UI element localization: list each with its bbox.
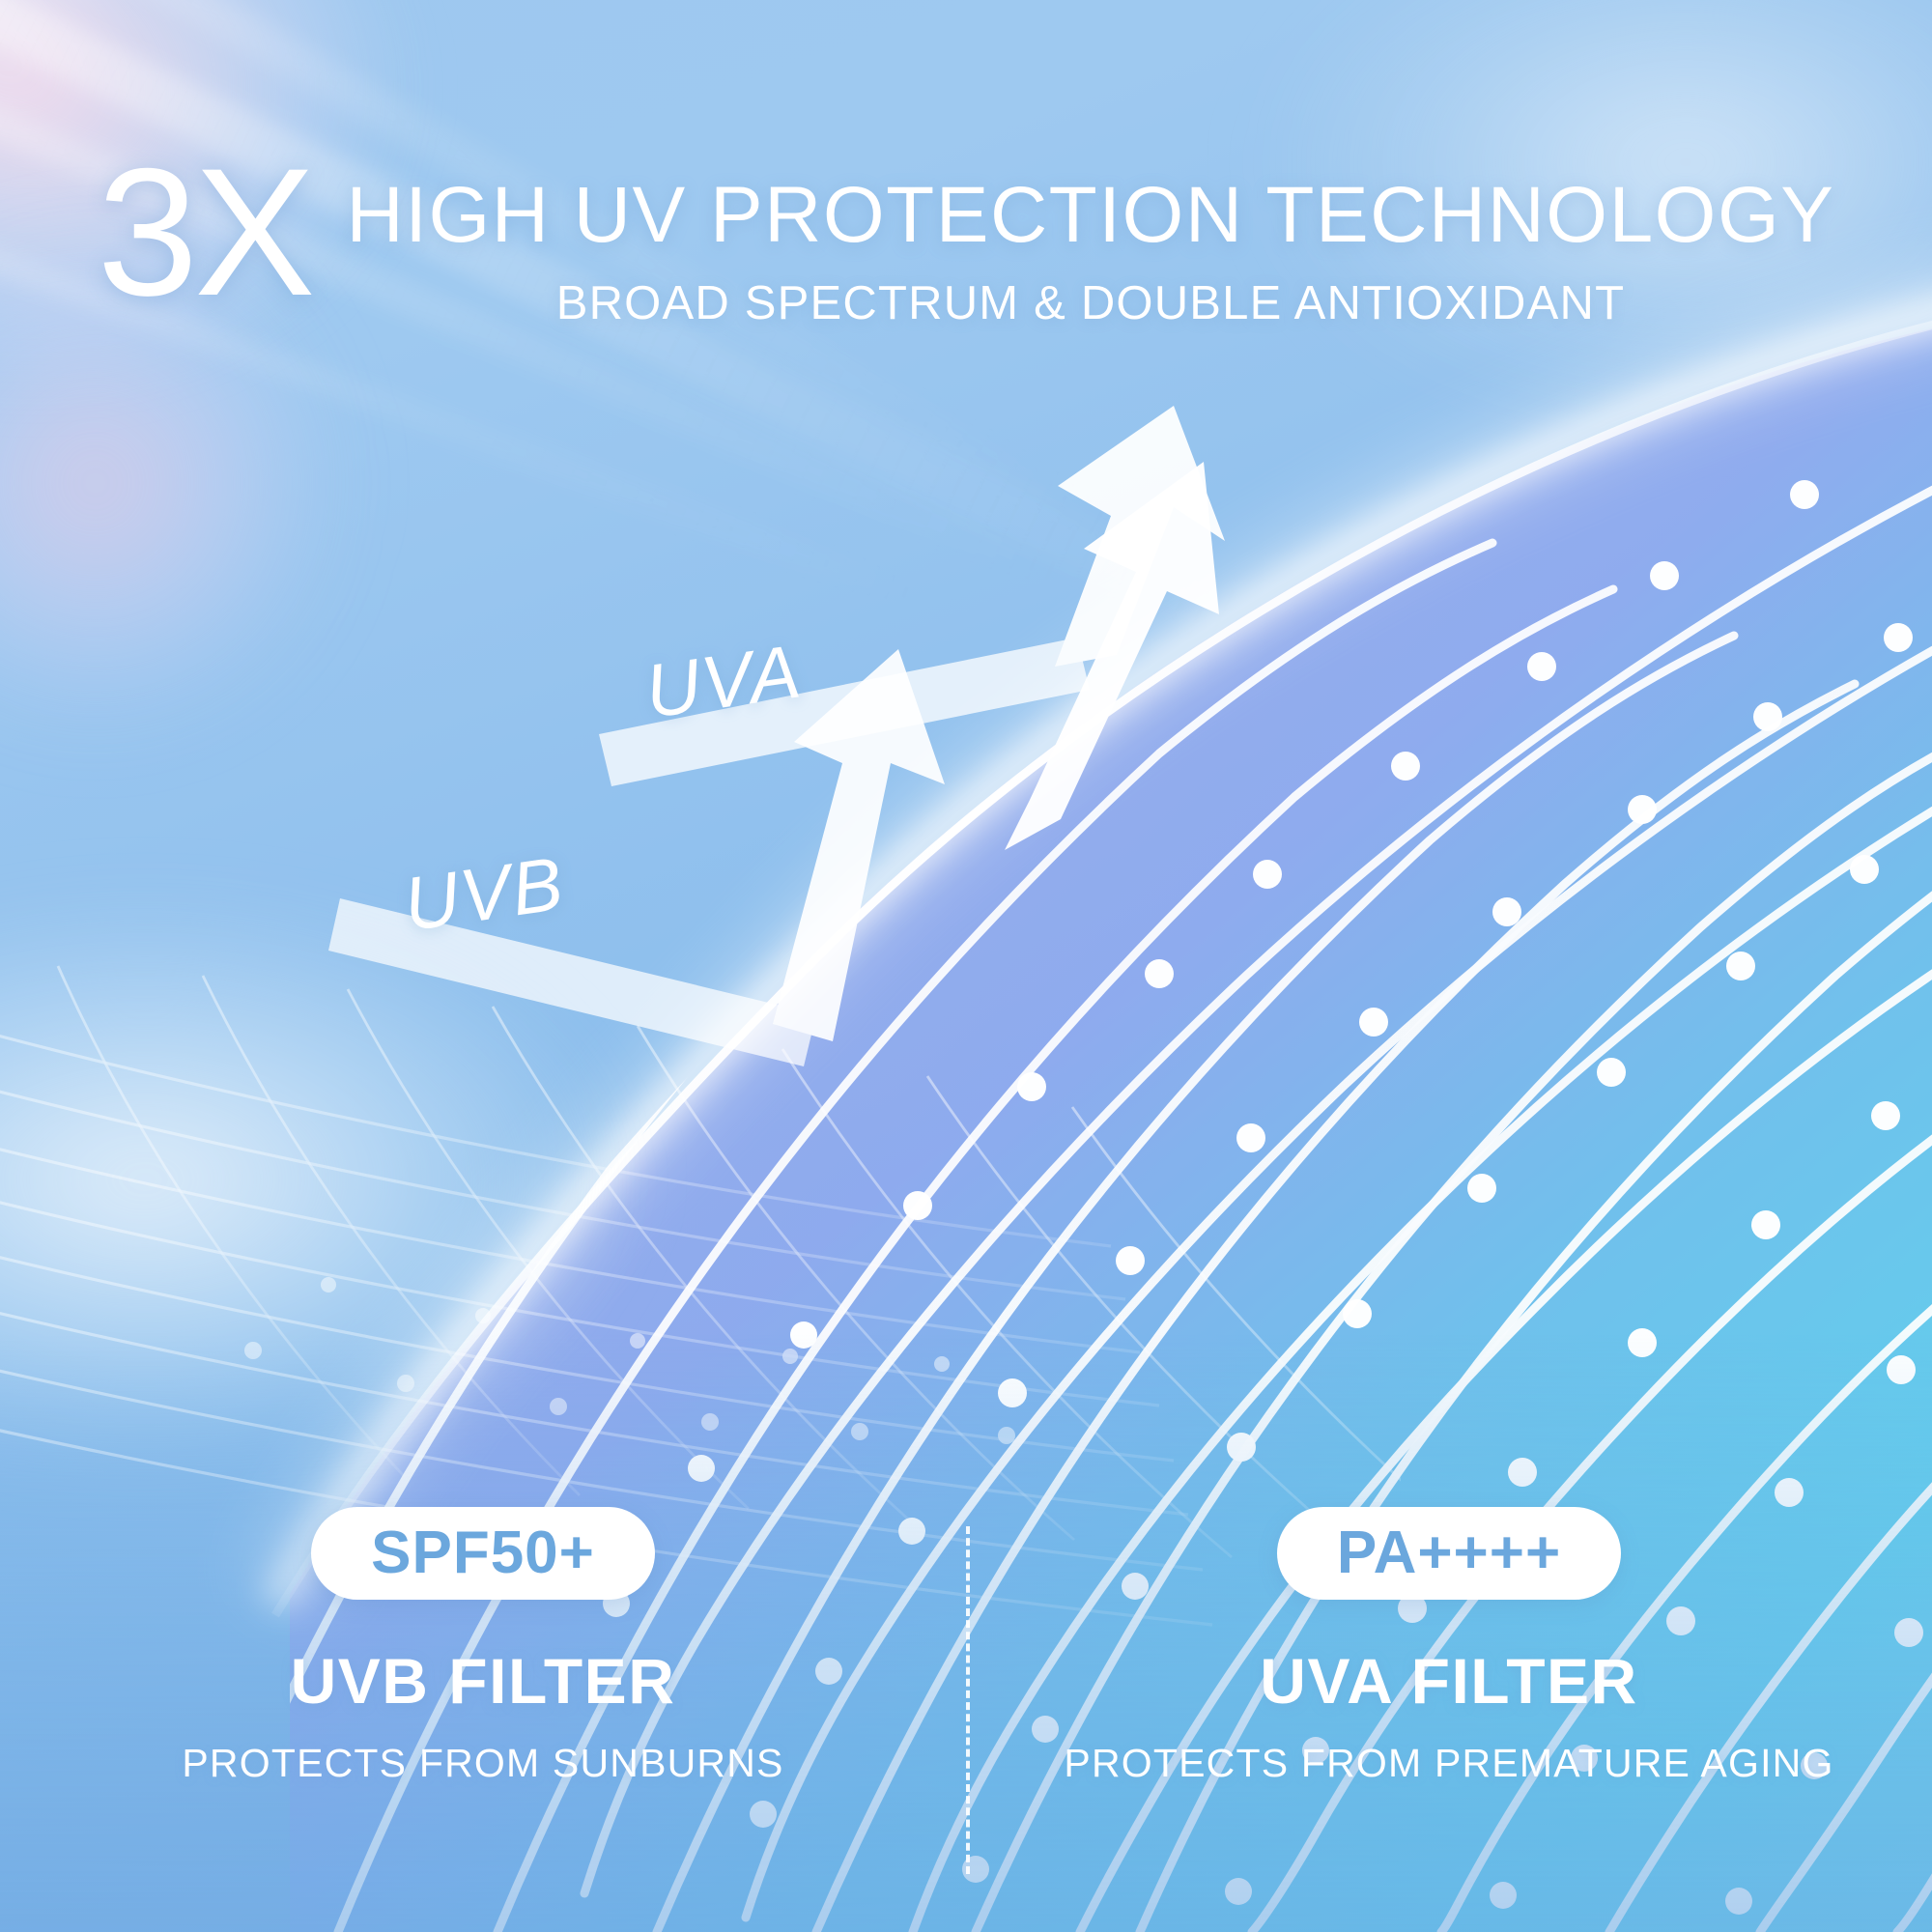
status-badge: PA++++	[1337, 1523, 1561, 1583]
filter-title-uva: UVA FILTER	[1024, 1644, 1874, 1718]
filter-title-uvb: UVB FILTER	[58, 1644, 908, 1718]
pa-badge: PA++++	[1277, 1507, 1621, 1600]
sunscreen-uv-protection-infographic: 3X HIGH UV PROTECTION TECHNOLOGY BROAD S…	[0, 0, 1932, 1932]
filter-column-uva: PA++++ UVA FILTER PROTECTS FROM PREMATUR…	[1024, 1507, 1874, 1786]
spf-badge: SPF50+	[311, 1507, 655, 1600]
page-title: HIGH UV PROTECTION TECHNOLOGY	[347, 176, 1835, 255]
filters-section: SPF50+ UVB FILTER PROTECTS FROM SUNBURNS…	[0, 1507, 1932, 1913]
filter-description-uva: PROTECTS FROM PREMATURE AGING	[1024, 1741, 1874, 1786]
page-subtitle: BROAD SPECTRUM & DOUBLE ANTIOXIDANT	[347, 280, 1835, 327]
multiplier-3x: 3X	[98, 155, 312, 311]
headline-block: 3X HIGH UV PROTECTION TECHNOLOGY BROAD S…	[0, 155, 1932, 327]
filter-description-uvb: PROTECTS FROM SUNBURNS	[58, 1741, 908, 1786]
status-badge: SPF50+	[371, 1523, 595, 1583]
filter-column-uvb: SPF50+ UVB FILTER PROTECTS FROM SUNBURNS	[58, 1507, 908, 1786]
